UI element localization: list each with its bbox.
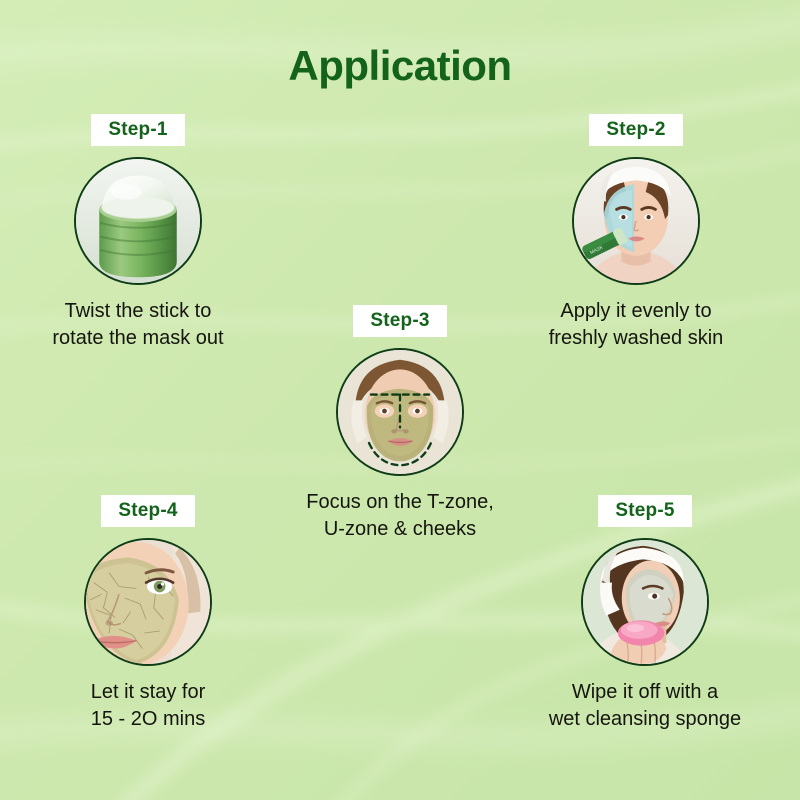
step-image-2: MASK xyxy=(572,157,700,285)
green-mask-stick-icon xyxy=(76,159,200,283)
step-badge-2: Step-2 xyxy=(589,114,682,146)
step-badge-4: Step-4 xyxy=(101,495,194,527)
step-caption-4: Let it stay for 15 - 2O mins xyxy=(91,679,206,733)
step-item-4: Step-4 xyxy=(18,495,278,733)
step-item-3: Step-3 xyxy=(270,305,530,543)
step-item-2: Step-2 xyxy=(506,114,766,352)
step-image-5 xyxy=(581,538,709,666)
dried-clay-mask-face-icon xyxy=(86,540,210,664)
step-caption-2: Apply it evenly to freshly washed skin xyxy=(549,298,724,352)
t-zone-u-zone-face-icon xyxy=(338,350,462,474)
step-item-5: Step-5 xyxy=(515,495,775,733)
application-steps-poster: Application Step-1 xyxy=(0,0,800,800)
step-image-1 xyxy=(74,157,202,285)
step-badge-3: Step-3 xyxy=(353,305,446,337)
wiping-mask-with-sponge-icon xyxy=(583,540,707,664)
woman-applying-mask-icon: MASK xyxy=(574,159,698,283)
step-badge-1: Step-1 xyxy=(91,114,184,146)
step-caption-1: Twist the stick to rotate the mask out xyxy=(52,298,223,352)
step-image-3 xyxy=(336,348,464,476)
step-caption-5: Wipe it off with a wet cleansing sponge xyxy=(549,679,741,733)
step-image-4 xyxy=(84,538,212,666)
step-item-1: Step-1 xyxy=(8,114,268,352)
step-badge-5: Step-5 xyxy=(598,495,691,527)
page-title: Application xyxy=(0,42,800,90)
step-caption-3: Focus on the T-zone, U-zone & cheeks xyxy=(306,489,494,543)
